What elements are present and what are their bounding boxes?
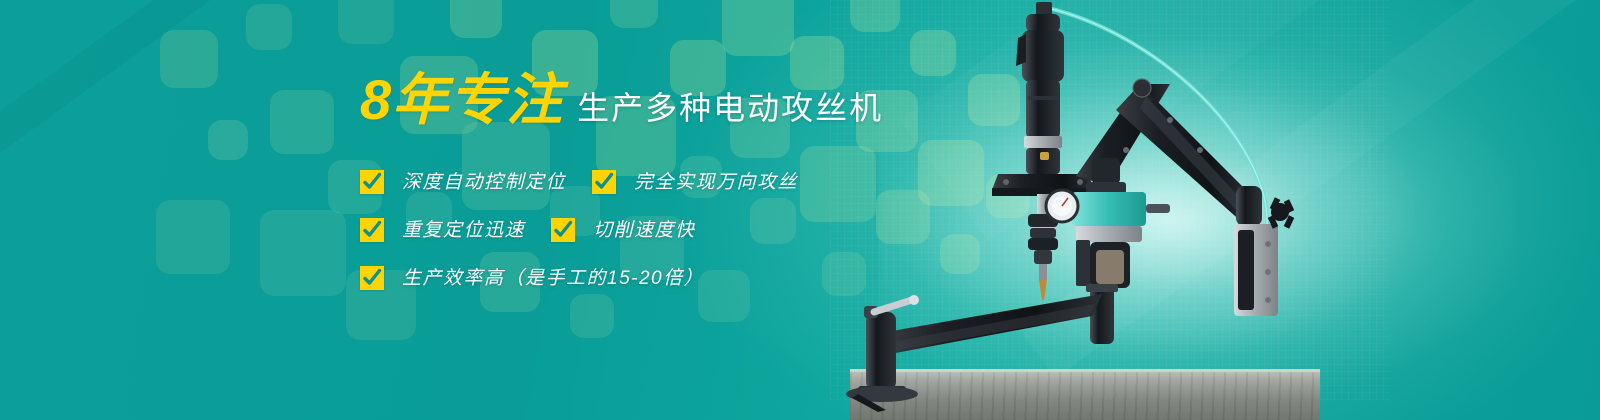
feature-list: 深度自动控制定位完全实现万向攻丝重复定位迅速切削速度快生产效率高（是手工的15-…: [360, 158, 900, 302]
feature-label: 重复定位迅速: [402, 221, 525, 240]
headline: 8年专注 生产多种电动攻丝机: [360, 72, 900, 128]
mosaic-square: [246, 4, 292, 50]
copy-block: 8年专注 生产多种电动攻丝机 深度自动控制定位完全实现万向攻丝重复定位迅速切削速…: [360, 72, 900, 302]
feature-item: 完全实现万向攻丝: [592, 170, 798, 194]
mosaic-square: [156, 200, 230, 274]
mosaic-square: [610, 0, 658, 28]
headline-subtitle: 生产多种电动攻丝机: [577, 92, 883, 124]
pneumatic-tapping-machine: [840, 0, 1310, 420]
feature-label: 完全实现万向攻丝: [634, 173, 798, 192]
mosaic-square: [260, 210, 346, 296]
check-box-icon: [360, 218, 384, 242]
feature-row: 重复定位迅速切削速度快: [360, 206, 900, 254]
check-box-icon: [592, 170, 616, 194]
check-box-icon: [551, 218, 575, 242]
feature-item: 生产效率高（是手工的15-20倍）: [360, 266, 704, 290]
feature-label: 生产效率高（是手工的15-20倍）: [402, 269, 704, 288]
feature-label: 深度自动控制定位: [402, 173, 566, 192]
mosaic-square: [208, 120, 248, 160]
feature-row: 深度自动控制定位完全实现万向攻丝: [360, 158, 900, 206]
mosaic-square: [338, 0, 394, 44]
headline-years: 8年专注: [360, 72, 563, 128]
feature-label: 切削速度快: [593, 221, 696, 240]
column-base: [846, 295, 919, 412]
pneumatic-motor: [1016, 2, 1064, 174]
feature-item: 重复定位迅速: [360, 218, 525, 242]
mosaic-square: [270, 90, 334, 154]
feature-item: 深度自动控制定位: [360, 170, 566, 194]
check-box-icon: [360, 170, 384, 194]
mosaic-square: [450, 0, 502, 38]
mosaic-square: [722, 0, 794, 56]
mosaic-square: [160, 30, 218, 88]
check-box-icon: [360, 266, 384, 290]
feature-row: 生产效率高（是手工的15-20倍）: [360, 254, 900, 302]
feature-item: 切削速度快: [551, 218, 696, 242]
promo-banner: 8年专注 生产多种电动攻丝机 深度自动控制定位完全实现万向攻丝重复定位迅速切削速…: [0, 0, 1600, 420]
